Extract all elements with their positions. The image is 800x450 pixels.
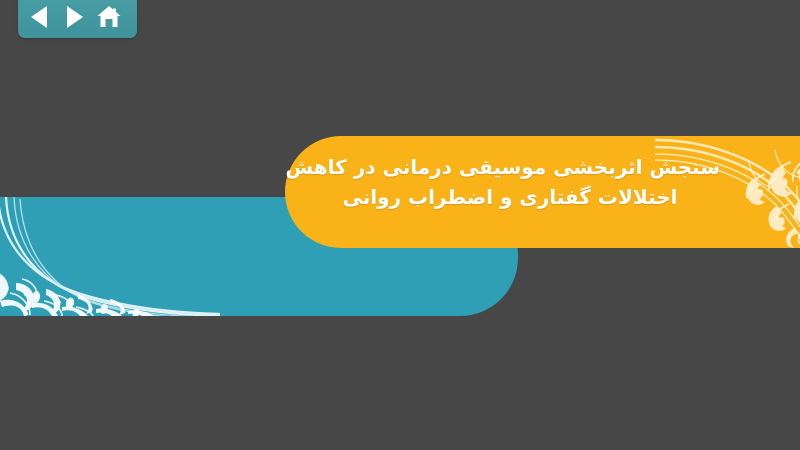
slide-title: سنجش اثربخشی موسیقی درمانی در کاهش اختلا…: [300, 152, 720, 212]
triangle-left-icon: [31, 6, 47, 28]
next-slide-button[interactable]: [60, 0, 90, 34]
home-icon: [96, 5, 122, 29]
arabesque-ornament-teal: [0, 197, 220, 316]
slide-title-line-2: اختلالات گفتاری و اضطراب روانی: [300, 182, 720, 212]
previous-slide-button[interactable]: [24, 0, 54, 34]
slide-title-line-1: سنجش اثربخشی موسیقی درمانی در کاهش: [300, 152, 720, 182]
presentation-slide: سنجش اثربخشی موسیقی درمانی در کاهش اختلا…: [0, 0, 800, 450]
home-slide-button[interactable]: [94, 0, 124, 34]
slide-navigation-bar: [18, 0, 137, 38]
triangle-right-icon: [67, 6, 83, 28]
